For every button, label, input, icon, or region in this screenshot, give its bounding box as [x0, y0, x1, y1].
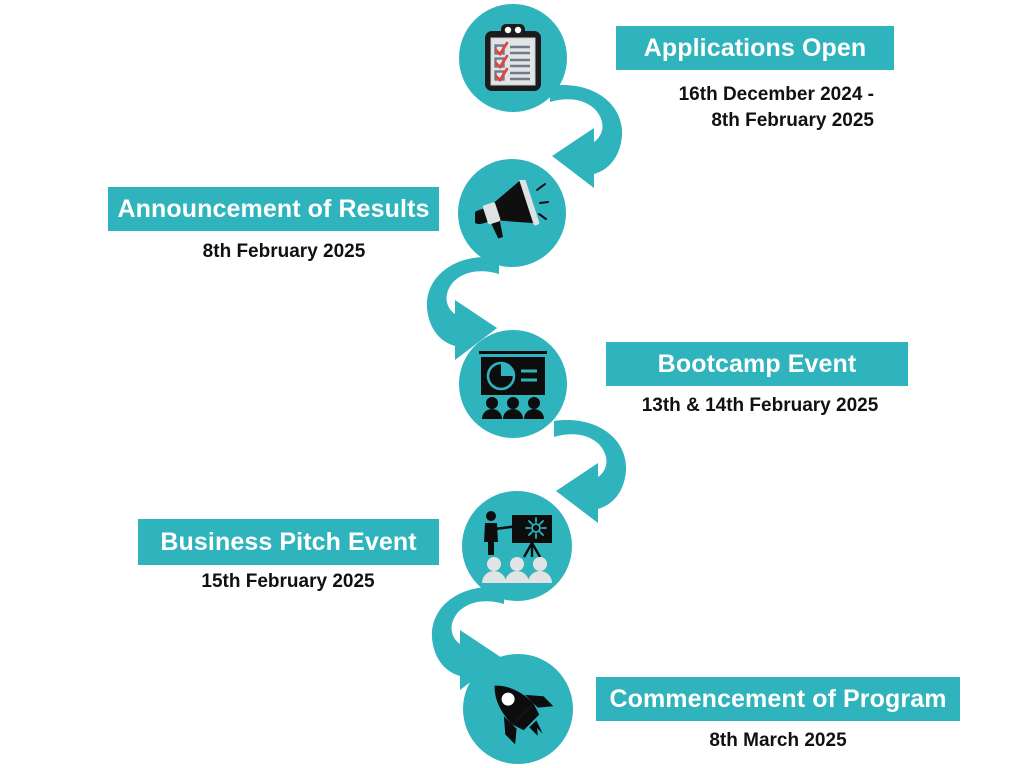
- megaphone-icon: [475, 180, 549, 246]
- step-date-applications-open: 16th December 2024 - 8th February 2025: [604, 82, 874, 134]
- step-label-bar-bootcamp-event: Bootcamp Event: [606, 342, 908, 386]
- step-label-text: Announcement of Results: [117, 195, 429, 224]
- step-date-bootcamp-event: 13th & 14th February 2025: [600, 393, 920, 419]
- step-label-text: Bootcamp Event: [658, 350, 857, 379]
- step-date-business-pitch-event: 15th February 2025: [118, 569, 458, 595]
- step-label-bar-announcement-of-results: Announcement of Results: [108, 187, 439, 231]
- step-label-bar-business-pitch-event: Business Pitch Event: [138, 519, 439, 565]
- step-date-announcement-of-results: 8th February 2025: [114, 239, 454, 265]
- step-date-commencement-of-program: 8th March 2025: [588, 728, 968, 754]
- step-label-text: Applications Open: [644, 34, 867, 63]
- step-label-bar-commencement-of-program: Commencement of Program: [596, 677, 960, 721]
- rocket-icon: [483, 674, 553, 744]
- step-label-text: Business Pitch Event: [160, 528, 416, 557]
- step-icon-circle-commencement-of-program: [463, 654, 573, 764]
- presenter-whiteboard-audience-icon: [478, 509, 556, 583]
- step-label-text: Commencement of Program: [609, 685, 946, 714]
- step-label-bar-applications-open: Applications Open: [616, 26, 894, 70]
- timeline-diagram: Applications Open 16th December 2024 - 8…: [0, 0, 1024, 768]
- step-icon-circle-announcement-of-results: [458, 159, 566, 267]
- presentation-chart-audience-icon: [475, 349, 551, 419]
